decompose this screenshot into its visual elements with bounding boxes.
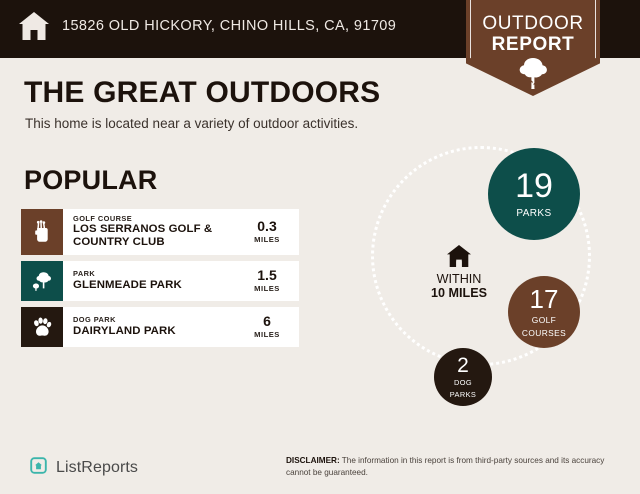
list-item-distance: 0.3 MILES: [239, 209, 299, 255]
stat-value: 17: [530, 286, 559, 312]
home-icon: [18, 11, 50, 41]
stat-value: 19: [515, 169, 553, 203]
stat-bubble-golf-courses: 17 GOLF COURSES: [508, 276, 580, 348]
list-item-category: GOLF COURSE: [73, 215, 239, 224]
popular-heading: POPULAR: [24, 165, 157, 196]
stat-label-line1: DOG: [454, 379, 472, 387]
listreports-logo[interactable]: ListReports: [28, 455, 138, 481]
list-item-name: GLENMEADE PARK: [73, 279, 239, 292]
listreports-wordmark: ListReports: [56, 459, 138, 477]
list-item-distance: 1.5 MILES: [239, 261, 299, 301]
home-icon: [404, 244, 514, 268]
list-item-info: DOG PARK DAIRYLAND PARK: [63, 307, 239, 347]
paw-icon: [21, 307, 63, 347]
page-subtitle: This home is located near a variety of o…: [25, 116, 358, 131]
center-line1: WITHIN: [404, 272, 514, 286]
page-title: THE GREAT OUTDOORS: [24, 76, 380, 110]
distance-value: 6: [263, 314, 271, 329]
distance-value: 0.3: [257, 219, 276, 234]
center-line2: 10 MILES: [404, 286, 514, 300]
disclaimer: DISCLAIMER: The information in this repo…: [286, 455, 616, 479]
list-item-distance: 6 MILES: [239, 307, 299, 347]
list-item-info: GOLF COURSE LOS SERRANOS GOLF & COUNTRY …: [63, 209, 239, 255]
list-item[interactable]: PARK GLENMEADE PARK 1.5 MILES: [21, 261, 299, 301]
stat-value: 2: [457, 355, 469, 376]
distance-unit: MILES: [254, 330, 280, 340]
list-item-name: DAIRYLAND PARK: [73, 325, 239, 338]
badge-line1: OUTDOOR: [466, 14, 600, 33]
golf-bag-icon: [21, 209, 63, 255]
list-item[interactable]: DOG PARK DAIRYLAND PARK 6 MILES: [21, 307, 299, 347]
stat-bubble-parks: 19 PARKS: [488, 148, 580, 240]
list-item-category: DOG PARK: [73, 316, 239, 325]
distance-unit: MILES: [254, 235, 280, 245]
amenities-diagram: WITHIN 10 MILES 19 PARKS 17 GOLF COURSES…: [350, 140, 630, 430]
popular-list: GOLF COURSE LOS SERRANOS GOLF & COUNTRY …: [21, 209, 299, 353]
badge-line2: REPORT: [466, 35, 600, 54]
address-text: 15826 OLD HICKORY, CHINO HILLS, CA, 9170…: [62, 18, 396, 34]
list-item-info: PARK GLENMEADE PARK: [63, 261, 239, 301]
disclaimer-label: DISCLAIMER:: [286, 456, 340, 465]
list-item-category: PARK: [73, 270, 239, 279]
park-tree-icon: [21, 261, 63, 301]
outdoor-report-page: 15826 OLD HICKORY, CHINO HILLS, CA, 9170…: [0, 0, 640, 494]
stat-label-line2: COURSES: [522, 329, 566, 338]
distance-unit: MILES: [254, 284, 280, 294]
stat-label-line1: GOLF: [532, 316, 556, 325]
outdoor-report-badge: OUTDOOR REPORT: [466, 0, 600, 96]
stat-label-line2: PARKS: [450, 391, 477, 399]
listreports-house-icon: [28, 455, 49, 481]
list-item-name: LOS SERRANOS GOLF & COUNTRY CLUB: [73, 223, 239, 249]
distance-value: 1.5: [257, 268, 276, 283]
list-item[interactable]: GOLF COURSE LOS SERRANOS GOLF & COUNTRY …: [21, 209, 299, 255]
diagram-center: WITHIN 10 MILES: [404, 244, 514, 300]
stat-bubble-dog-parks: 2 DOG PARKS: [434, 348, 492, 406]
stat-label: PARKS: [516, 208, 551, 219]
address-block: 15826 OLD HICKORY, CHINO HILLS, CA, 9170…: [18, 11, 396, 41]
